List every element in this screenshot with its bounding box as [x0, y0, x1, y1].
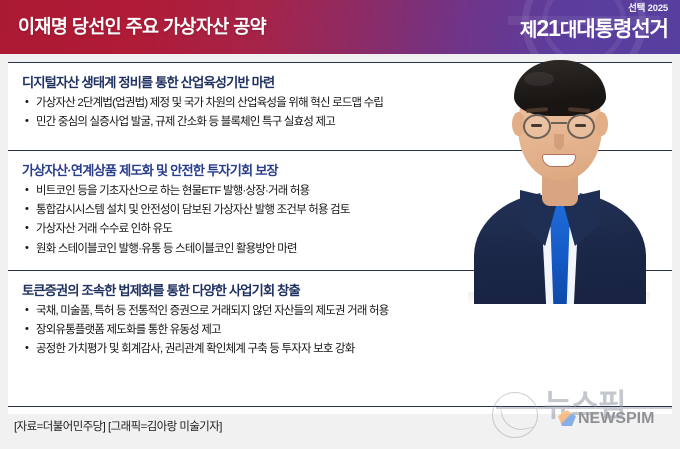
brand-main-line: 제21대대통령선거	[520, 15, 668, 42]
candidate-portrait-photo	[468, 42, 650, 304]
list-item: 장외유통플랫폼 제도화를 통한 유동성 제고	[8, 323, 672, 339]
globe-icon	[492, 392, 538, 438]
portrait-hair	[514, 60, 606, 116]
section-3-bullet-list: 국채, 미술품, 특허 등 전통적인 증권으로 거래되지 않던 자산들의 제도권…	[8, 304, 672, 358]
source-credit: [자료=더불어민주당] [그래픽=김아랑 미술기자]	[14, 418, 222, 434]
portrait-smiling-mouth	[542, 154, 576, 167]
brand-prefix: 제	[520, 20, 536, 41]
infographic-root: 이재명 당선인 주요 가상자산 공약 선택 2025 제21대대통령선거 디지털…	[0, 0, 680, 449]
watermark-latin-wordmark: NEWSPIM	[578, 410, 654, 428]
newspim-watermark: 뉴스핌 NEWSPIM	[492, 388, 672, 444]
portrait-nose	[554, 134, 564, 150]
brand-kicker: 선택 2025	[520, 4, 668, 14]
list-item: 공정한 가치평가 및 회계감사, 권리관계 확인체계 구축 등 투자자 보호 강…	[8, 342, 672, 358]
brand-main-text: 대통령선거	[576, 18, 668, 41]
portrait-ear-right	[595, 112, 608, 136]
brand-unit: 대	[560, 20, 576, 41]
list-item: 국채, 미술품, 특허 등 전통적인 증권으로 거래되지 않던 자산들의 제도권…	[8, 304, 672, 320]
portrait-glasses-bridge	[551, 122, 567, 124]
portrait-glasses-lens-right	[567, 114, 595, 139]
brand-number: 21	[536, 15, 560, 41]
election-brand-block: 선택 2025 제21대대통령선거	[520, 4, 668, 43]
page-title: 이재명 당선인 주요 가상자산 공약	[18, 13, 266, 39]
portrait-glasses-lens-left	[523, 114, 551, 139]
